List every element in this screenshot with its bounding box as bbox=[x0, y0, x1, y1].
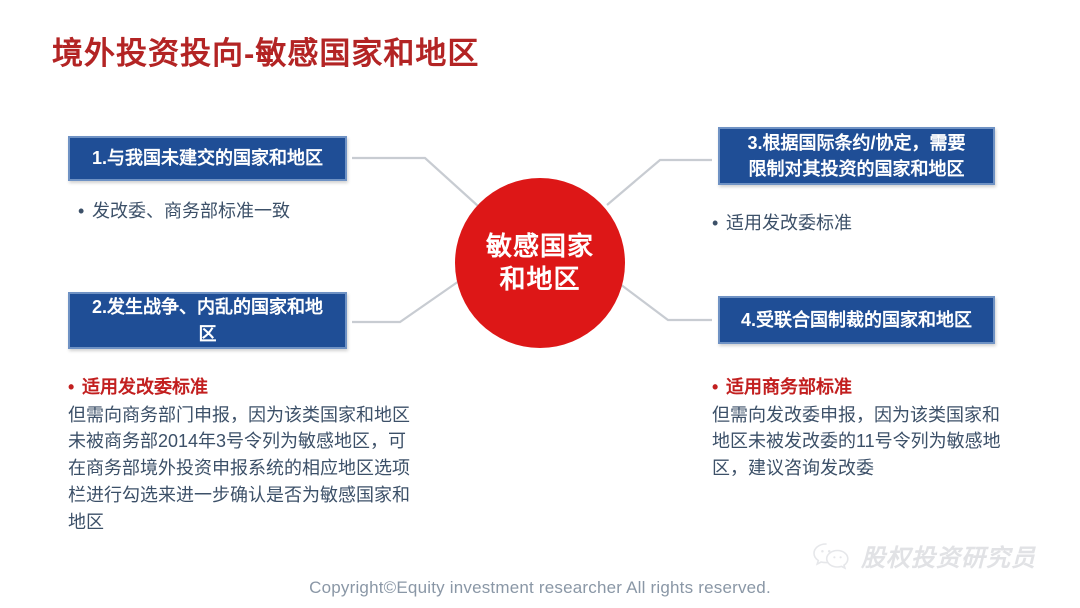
node-3-bullet: • 适用发改委标准 bbox=[712, 210, 1012, 237]
node-4-paragraph: 但需向发改委申报，因为该类国家和 地区未被发改委的11号令列为敏感地 区，建议咨… bbox=[712, 402, 1072, 482]
node-3-bullet-text: 适用发改委标准 bbox=[726, 210, 852, 237]
connector-node-2 bbox=[352, 272, 472, 322]
bullet-dot-icon: • bbox=[712, 374, 726, 401]
node-2-heading-box[interactable]: 2.发生战争、内乱的国家和地 区 bbox=[68, 292, 347, 349]
center-node-label: 敏感国家和地区 bbox=[481, 230, 599, 297]
slide-canvas: 境外投资投向-敏感国家和地区 敏感国家和地区 1.与我国未建交的国家和地区 • … bbox=[0, 0, 1080, 608]
node-3-heading-text: 3.根据国际条约/协定，需要 限制对其投资的国家和地区 bbox=[747, 130, 965, 182]
node-1-body: • 发改委、商务部标准一致 bbox=[78, 198, 408, 225]
bullet-dot-icon: • bbox=[68, 374, 82, 401]
node-4-paragraph-line-1: 但需向发改委申报，因为该类国家和 bbox=[712, 402, 1072, 429]
bullet-dot-icon: • bbox=[78, 198, 92, 225]
node-1-bullet-text: 发改委、商务部标准一致 bbox=[92, 198, 290, 225]
node-2-body: • 适用发改委标准 但需向商务部门申报，因为该类国家和地区 未被商务部2014年… bbox=[68, 374, 498, 536]
node-4-paragraph-line-2: 地区未被发改委的11号令列为敏感地 bbox=[712, 428, 1072, 455]
connector-node-4 bbox=[612, 278, 712, 320]
node-4-heading-box[interactable]: 4.受联合国制裁的国家和地区 bbox=[718, 296, 995, 344]
node-1-heading-box[interactable]: 1.与我国未建交的国家和地区 bbox=[68, 136, 347, 181]
node-1-bullet: • 发改委、商务部标准一致 bbox=[78, 198, 408, 225]
node-2-bullet: • 适用发改委标准 bbox=[68, 374, 498, 401]
page-title: 境外投资投向-敏感国家和地区 bbox=[52, 28, 479, 73]
node-2-paragraph-line-4: 栏进行勾选来进一步确认是否为敏感国家和 bbox=[68, 482, 498, 509]
node-4-body: • 适用商务部标准 但需向发改委申报，因为该类国家和 地区未被发改委的11号令列… bbox=[712, 374, 1072, 482]
bullet-dot-icon: • bbox=[712, 210, 726, 237]
node-2-bullet-text: 适用发改委标准 bbox=[82, 374, 208, 401]
node-2-paragraph-line-3: 在商务部境外投资申报系统的相应地区选项 bbox=[68, 455, 498, 482]
node-3-heading-line-1: 3.根据国际条约/协定，需要 bbox=[747, 130, 965, 156]
node-2-heading-text: 2.发生战争、内乱的国家和地 区 bbox=[92, 294, 323, 346]
node-1-heading-line-1: 1.与我国未建交的国家和地区 bbox=[92, 145, 323, 171]
center-node-circle: 敏感国家和地区 bbox=[455, 178, 625, 348]
node-2-paragraph: 但需向商务部门申报，因为该类国家和地区 未被商务部2014年3号令列为敏感地区，… bbox=[68, 402, 498, 536]
node-2-heading-line-1: 2.发生战争、内乱的国家和地 bbox=[92, 294, 323, 320]
wechat-icon bbox=[812, 541, 852, 571]
node-3-body: • 适用发改委标准 bbox=[712, 210, 1012, 237]
node-2-paragraph-line-1: 但需向商务部门申报，因为该类国家和地区 bbox=[68, 402, 498, 429]
node-2-paragraph-line-2: 未被商务部2014年3号令列为敏感地区，可 bbox=[68, 428, 498, 455]
node-4-bullet-text: 适用商务部标准 bbox=[726, 374, 852, 401]
node-3-heading-box[interactable]: 3.根据国际条约/协定，需要 限制对其投资的国家和地区 bbox=[718, 127, 995, 185]
watermark-label: 股权投资研究员 bbox=[861, 538, 1036, 573]
node-3-heading-line-2: 限制对其投资的国家和地区 bbox=[747, 156, 965, 182]
node-2-heading-line-2: 区 bbox=[92, 321, 323, 347]
node-4-heading-line-1: 4.受联合国制裁的国家和地区 bbox=[741, 307, 972, 333]
copyright-footer: Copyright©Equity investment researcher A… bbox=[0, 578, 1080, 598]
watermark: 股权投资研究员 bbox=[812, 538, 1036, 573]
node-2-paragraph-line-5: 地区 bbox=[68, 509, 498, 536]
connector-node-3 bbox=[607, 160, 712, 205]
node-4-bullet: • 适用商务部标准 bbox=[712, 374, 1072, 401]
node-4-paragraph-line-3: 区，建议咨询发改委 bbox=[712, 455, 1072, 482]
